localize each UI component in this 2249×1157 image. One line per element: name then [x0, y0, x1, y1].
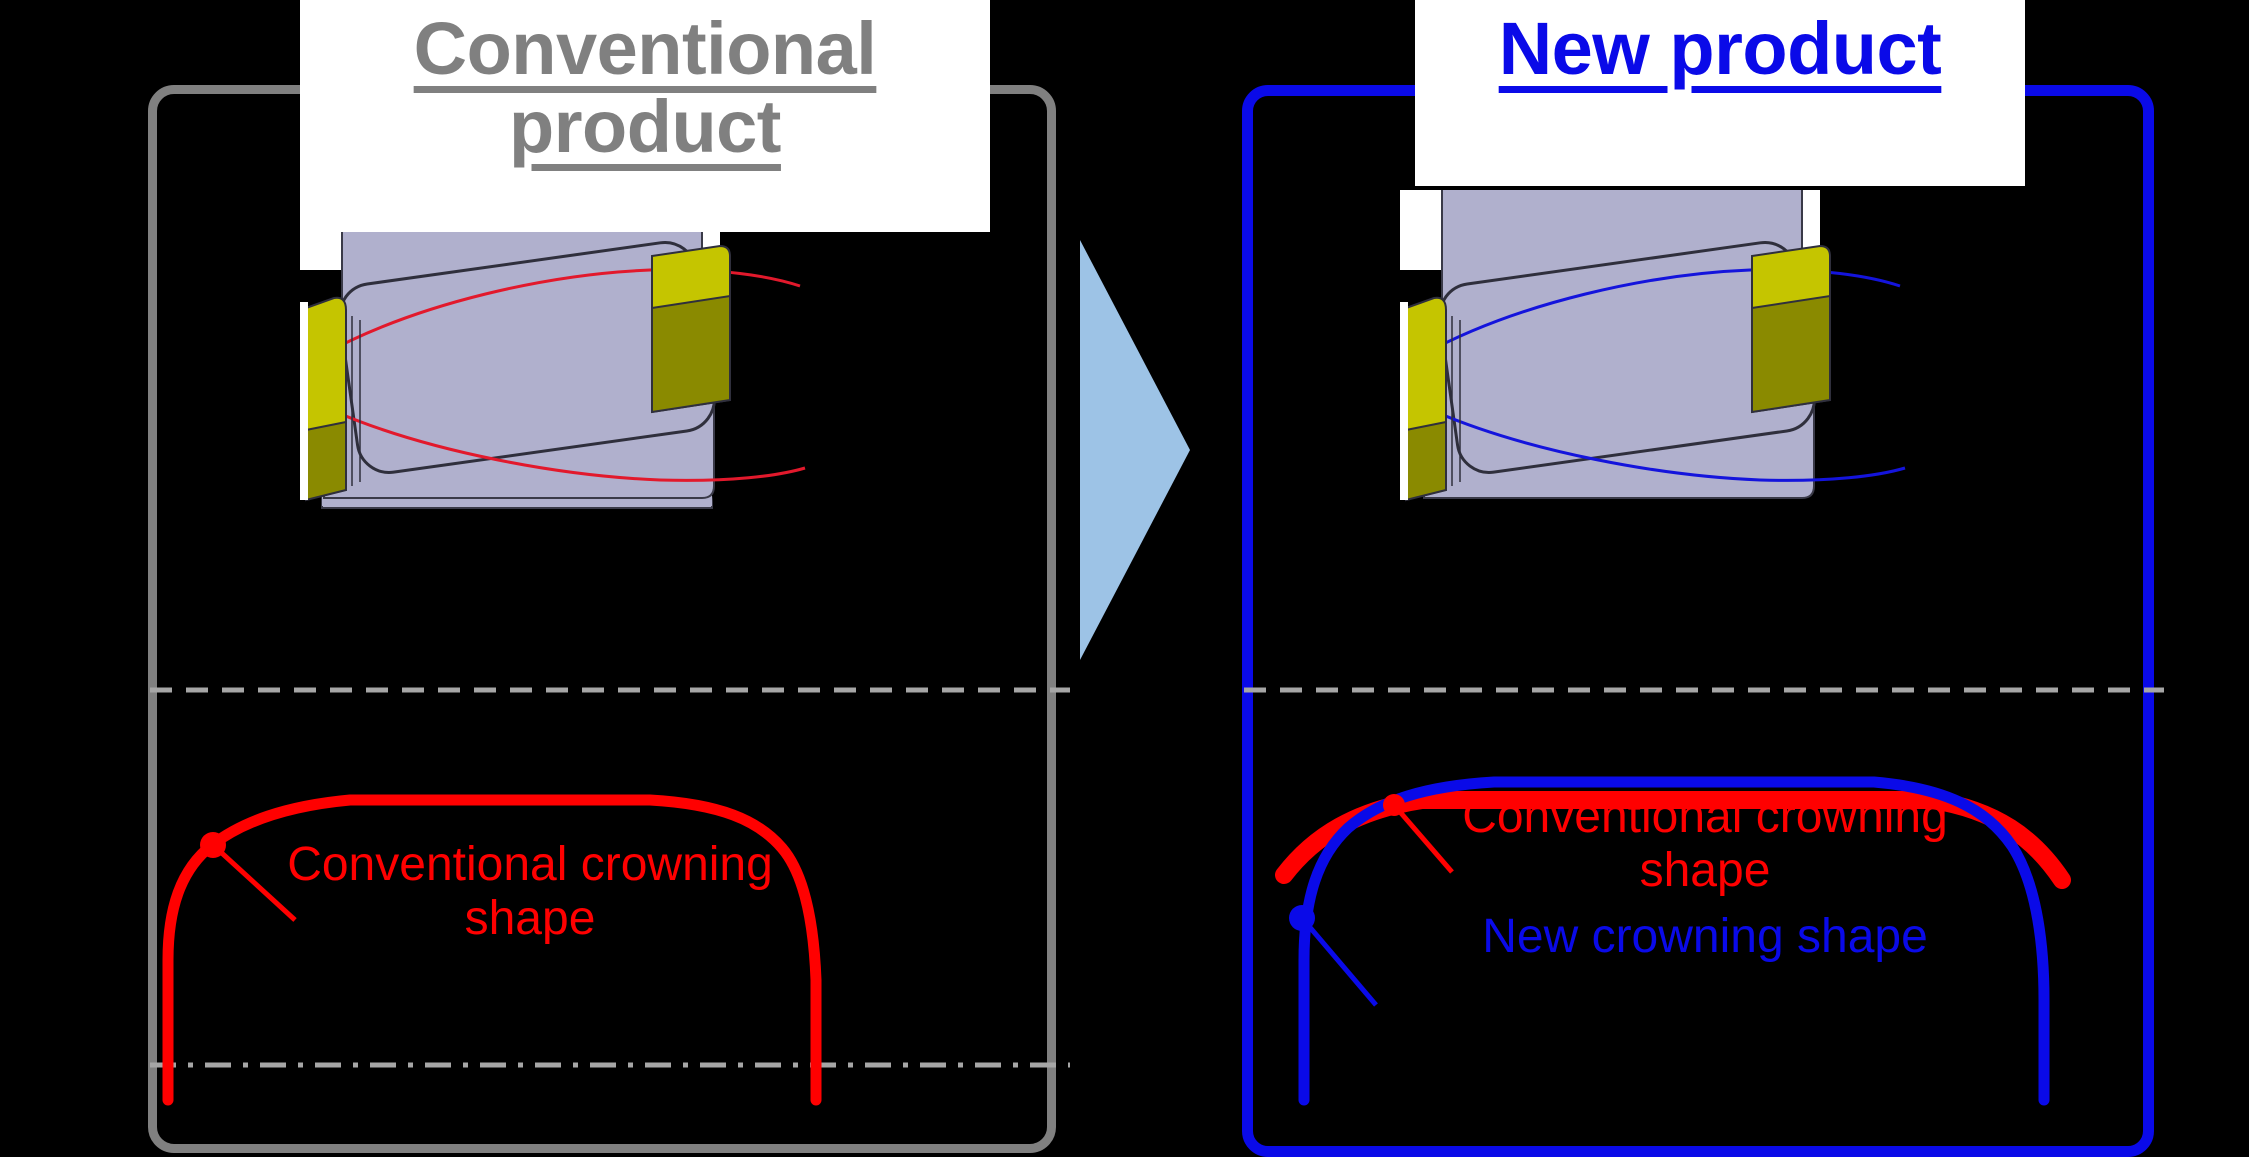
cad-svg-new: [1400, 190, 2030, 660]
arrow-svg: [1072, 240, 1192, 660]
page-title-new: New product: [1440, 10, 2000, 88]
cad-svg-conventional: [300, 190, 930, 660]
new-leader-line: [1302, 918, 1376, 1005]
caption-new-crowning: New crowning shape: [1425, 910, 1985, 964]
diagram-canvas: Conventional product New product Convent…: [0, 0, 2249, 1152]
cad-render-new: [1400, 190, 2030, 660]
title-plaque-new: New product: [1415, 0, 2025, 186]
title-plaque-conventional: Conventional product: [300, 0, 990, 232]
page-title-conventional: Conventional product: [345, 10, 945, 167]
cad-render-conventional: [300, 190, 930, 660]
transition-arrow-icon: [1072, 240, 1192, 660]
caption-conventional-crowning-left: Conventional crowning shape: [250, 838, 810, 946]
caption-conventional-crowning-right: Conventional crowning shape: [1425, 790, 1985, 898]
